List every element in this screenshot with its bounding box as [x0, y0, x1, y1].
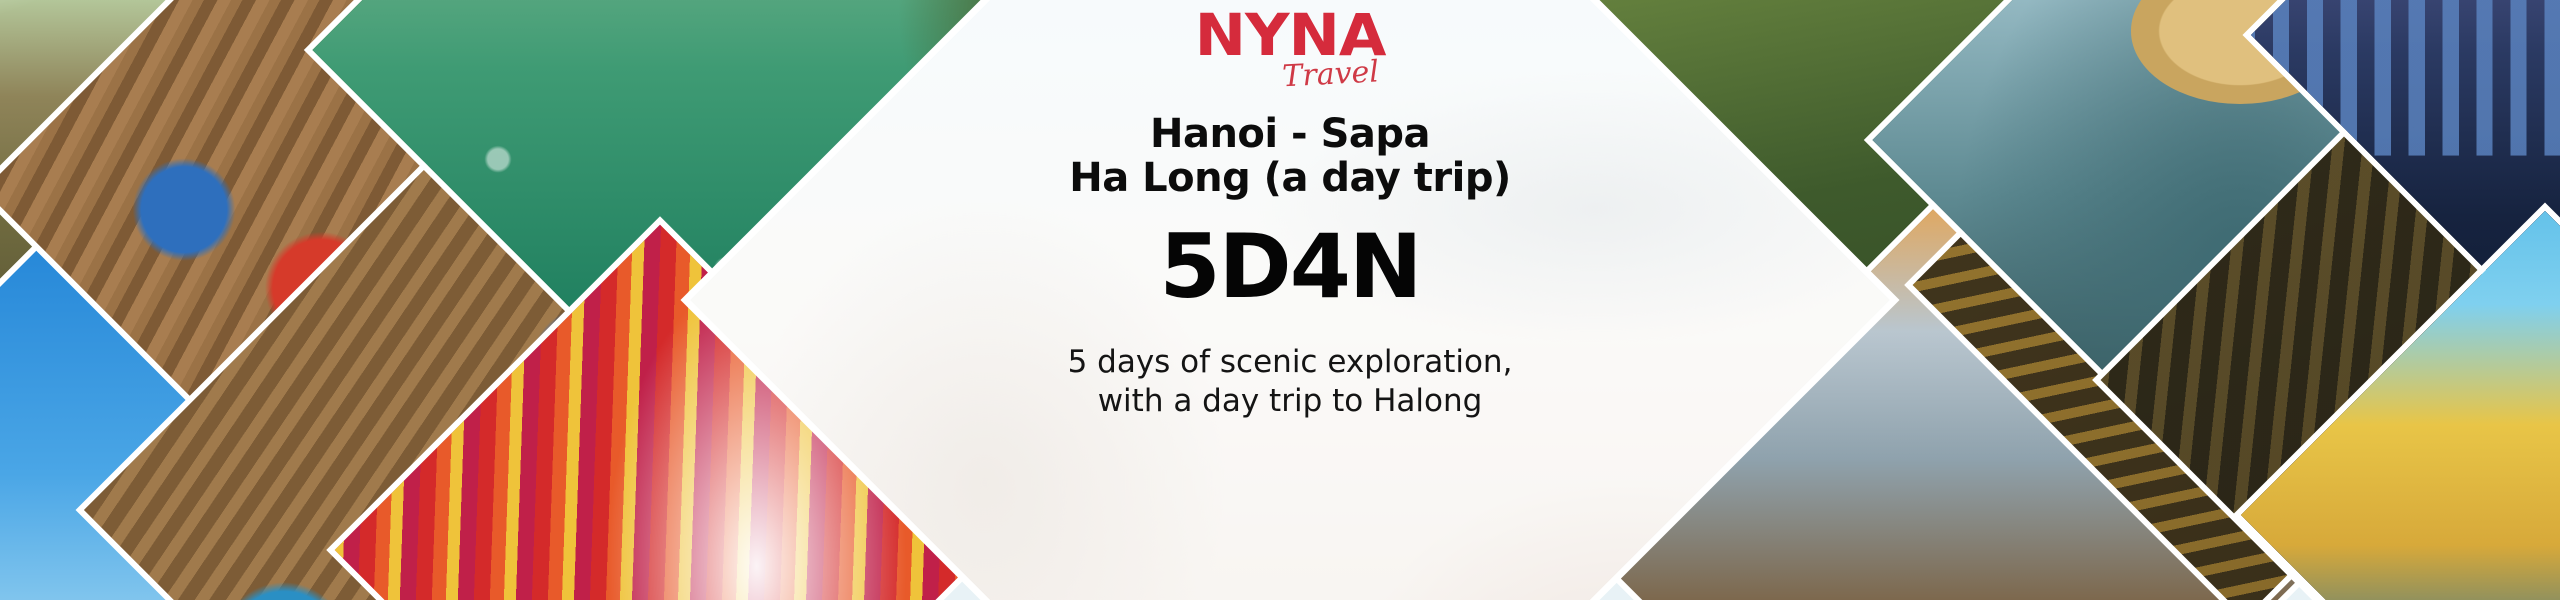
duration-label: 5D4N — [1159, 223, 1420, 311]
headline-line-1: Hanoi - Sapa — [1069, 112, 1510, 157]
subtitle: 5 days of scenic exploration, with a day… — [1068, 343, 1513, 421]
headline: Hanoi - Sapa Ha Long (a day trip) — [1069, 112, 1510, 202]
headline-line-2: Ha Long (a day trip) — [1069, 156, 1510, 201]
nyna-travel-logo: NYNA Travel — [1175, 8, 1405, 92]
subtitle-line-1: 5 days of scenic exploration, — [1068, 343, 1513, 382]
travel-banner: NYNA Travel Hanoi - Sapa Ha Long (a day … — [0, 0, 2560, 600]
subtitle-line-2: with a day trip to Halong — [1068, 382, 1513, 421]
